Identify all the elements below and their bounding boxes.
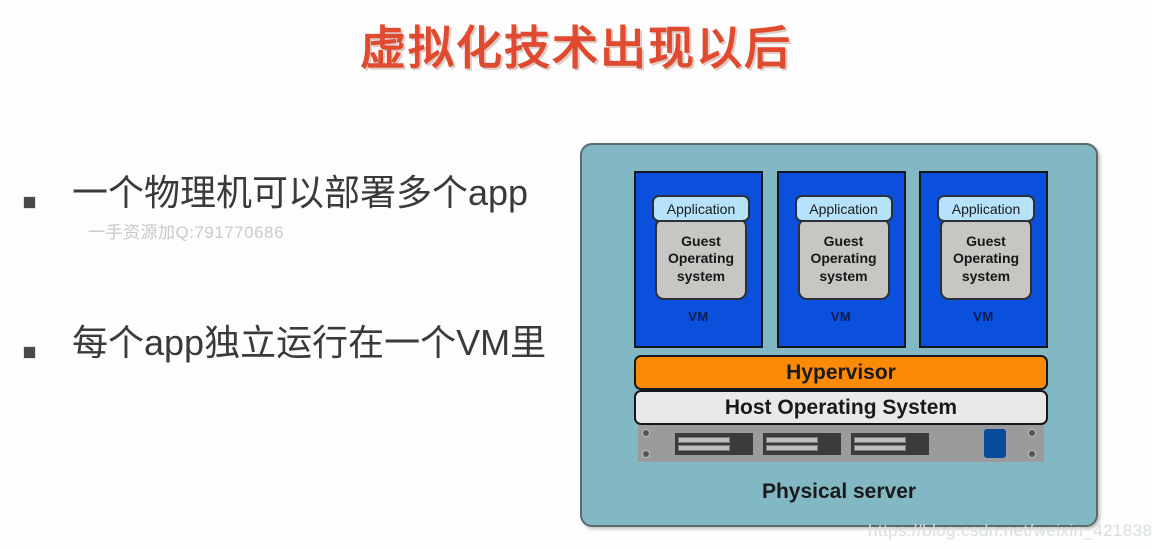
drive-bay (763, 433, 841, 455)
guest-os-box: Guest Operating system (798, 218, 890, 300)
application-box: Application (795, 195, 893, 222)
square-bullet-icon (24, 197, 35, 208)
page-title: 虚拟化技术出现以后 (0, 12, 1152, 78)
vm-row: Application Guest Operating system VM Ap… (634, 171, 1048, 348)
guest-os-line-2: Operating (668, 250, 734, 267)
list-item: 每个app独立运行在一个VM里 (0, 320, 575, 470)
chassis-body (658, 425, 1024, 462)
physical-server-label: Physical server (582, 480, 1096, 504)
chassis-ear-right (1024, 425, 1044, 462)
vm-box: Application Guest Operating system VM (919, 171, 1048, 348)
guest-os-line-3: system (819, 268, 867, 285)
drive-slat (766, 437, 818, 443)
bullet-text: 一个物理机可以部署多个app (72, 170, 528, 215)
application-box: Application (937, 195, 1035, 222)
drive-slat (766, 445, 818, 451)
guest-os-line-2: Operating (810, 250, 876, 267)
guest-os-line-1: Guest (966, 233, 1006, 250)
square-bullet-icon (24, 347, 35, 358)
host-operating-system-bar: Host Operating System (634, 390, 1048, 425)
vm-box: Application Guest Operating system VM (634, 171, 763, 348)
vm-box: Application Guest Operating system VM (777, 171, 906, 348)
drive-slat (678, 445, 730, 451)
guest-os-line-3: system (677, 268, 725, 285)
hypervisor-bar: Hypervisor (634, 355, 1048, 390)
vm-label: VM (921, 309, 1046, 324)
vm-label: VM (636, 309, 761, 324)
chassis-accent-panel (984, 429, 1006, 458)
bullet-text: 每个app独立运行在一个VM里 (72, 320, 546, 365)
guest-os-box: Guest Operating system (655, 218, 747, 300)
guest-os-box: Guest Operating system (940, 218, 1032, 300)
screw-icon (1029, 430, 1035, 436)
watermark-bottom-right: https://blog.csdn.net/weixin_42183854 (868, 521, 1152, 541)
drive-slat (854, 445, 906, 451)
list-item: 一个物理机可以部署多个app (0, 170, 575, 320)
screw-icon (643, 430, 649, 436)
watermark-bullet-area: 一手资源加Q:791770686 (88, 218, 284, 243)
drive-slat (678, 437, 730, 443)
bullet-list: 一个物理机可以部署多个app 每个app独立运行在一个VM里 (0, 170, 575, 470)
guest-os-line-1: Guest (681, 233, 721, 250)
vm-label: VM (779, 309, 904, 324)
application-box: Application (652, 195, 750, 222)
physical-server-chassis (638, 425, 1044, 462)
drive-bay (675, 433, 753, 455)
drive-bay (851, 433, 929, 455)
screw-icon (643, 451, 649, 457)
virtualization-diagram: Application Guest Operating system VM Ap… (580, 143, 1098, 527)
guest-os-line-3: system (962, 268, 1010, 285)
guest-os-line-1: Guest (824, 233, 864, 250)
drive-slat (854, 437, 906, 443)
guest-os-line-2: Operating (953, 250, 1019, 267)
chassis-ear-left (638, 425, 658, 462)
screw-icon (1029, 451, 1035, 457)
